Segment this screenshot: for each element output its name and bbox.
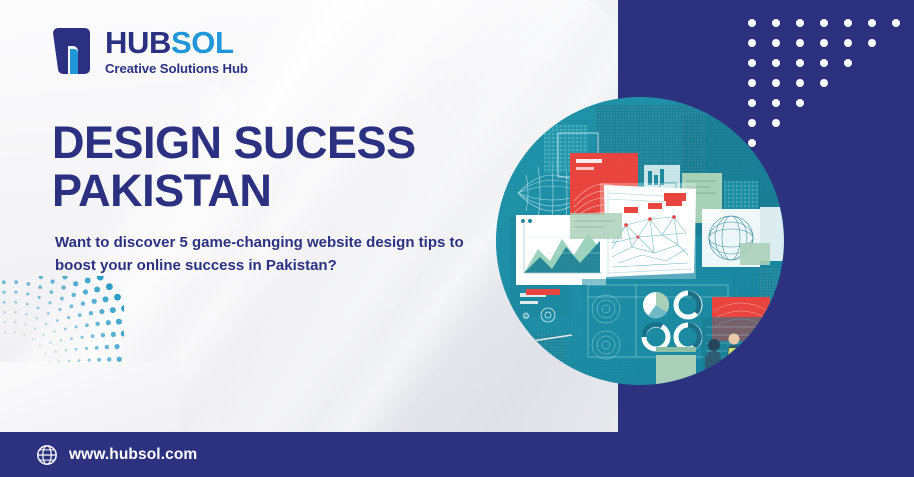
dot bbox=[844, 39, 852, 47]
website-url[interactable]: www.hubsol.com bbox=[69, 446, 197, 464]
dot-cell bbox=[772, 113, 796, 133]
dot-cell bbox=[772, 73, 796, 93]
dot-cell bbox=[820, 33, 844, 53]
dot bbox=[796, 99, 804, 107]
dot bbox=[748, 39, 756, 47]
logo-word-hub: HUB bbox=[105, 25, 171, 60]
dot bbox=[748, 139, 756, 147]
dot bbox=[892, 19, 900, 27]
dot-cell bbox=[892, 13, 914, 33]
dot bbox=[868, 19, 876, 27]
dot bbox=[820, 39, 828, 47]
dot-row bbox=[748, 93, 914, 113]
dot-cell bbox=[772, 13, 796, 33]
logo-word-sol: SOL bbox=[171, 25, 234, 60]
dot-cell bbox=[772, 33, 796, 53]
dot-cell bbox=[820, 53, 844, 73]
data-dashboard-illustration: ⚙ bbox=[496, 97, 784, 385]
dot bbox=[796, 79, 804, 87]
dot-row bbox=[748, 113, 914, 133]
dot-cell bbox=[844, 33, 868, 53]
dot-row bbox=[748, 53, 914, 73]
dot-cell bbox=[772, 53, 796, 73]
page-title: DESIGN SUCESS PAKISTAN bbox=[52, 119, 416, 214]
dot-row bbox=[748, 13, 914, 33]
dot-cell bbox=[748, 13, 772, 33]
dot-cell bbox=[820, 73, 844, 93]
dot bbox=[772, 39, 780, 47]
dot-cell bbox=[820, 13, 844, 33]
dot bbox=[748, 79, 756, 87]
logo-wordmark: HUBSOL Creative Solutions Hub bbox=[105, 27, 248, 75]
dot-row bbox=[748, 133, 914, 153]
dot bbox=[820, 19, 828, 27]
dot bbox=[748, 59, 756, 67]
dot-cell bbox=[748, 133, 772, 153]
dot-cell bbox=[748, 73, 772, 93]
dot bbox=[796, 19, 804, 27]
dot bbox=[772, 79, 780, 87]
dot bbox=[748, 99, 756, 107]
dot-cell bbox=[868, 33, 892, 53]
dot bbox=[748, 119, 756, 127]
dot-cell bbox=[748, 53, 772, 73]
dot bbox=[844, 59, 852, 67]
footer-bar: www.hubsol.com bbox=[0, 432, 914, 477]
hubsol-logo[interactable]: HUBSOL Creative Solutions Hub bbox=[50, 27, 248, 75]
dot bbox=[772, 99, 780, 107]
dot bbox=[868, 39, 876, 47]
dot-cell bbox=[796, 33, 820, 53]
headline-line-1: DESIGN SUCESS bbox=[52, 117, 416, 168]
dot-cell bbox=[772, 93, 796, 113]
dot-cell bbox=[748, 113, 772, 133]
logo-tagline: Creative Solutions Hub bbox=[105, 62, 248, 75]
globe-icon bbox=[36, 444, 58, 466]
subheadline: Want to discover 5 game-changing website… bbox=[55, 231, 485, 278]
dot bbox=[796, 39, 804, 47]
dot bbox=[772, 59, 780, 67]
dot bbox=[772, 19, 780, 27]
promo-banner: ⚙ bbox=[0, 0, 914, 477]
dot bbox=[748, 19, 756, 27]
dot bbox=[820, 59, 828, 67]
dot-cell bbox=[796, 73, 820, 93]
dot-cell bbox=[748, 93, 772, 113]
dot-row bbox=[748, 33, 914, 53]
dot-cell bbox=[796, 53, 820, 73]
dot-triangle-pattern bbox=[748, 13, 914, 153]
dot bbox=[844, 19, 852, 27]
dot bbox=[820, 79, 828, 87]
logo-word-row: HUBSOL bbox=[105, 27, 248, 58]
dot-cell bbox=[844, 13, 868, 33]
dot-cell bbox=[868, 13, 892, 33]
dot-cell bbox=[844, 53, 868, 73]
hubsol-h-monogram-icon bbox=[50, 27, 96, 75]
dot bbox=[772, 119, 780, 127]
dot-cell bbox=[748, 33, 772, 53]
footer-corner-wedge bbox=[0, 362, 180, 432]
dot-cell bbox=[796, 13, 820, 33]
dot-cell bbox=[796, 93, 820, 113]
dot-row bbox=[748, 73, 914, 93]
dot bbox=[796, 59, 804, 67]
headline-line-2: PAKISTAN bbox=[52, 167, 416, 215]
